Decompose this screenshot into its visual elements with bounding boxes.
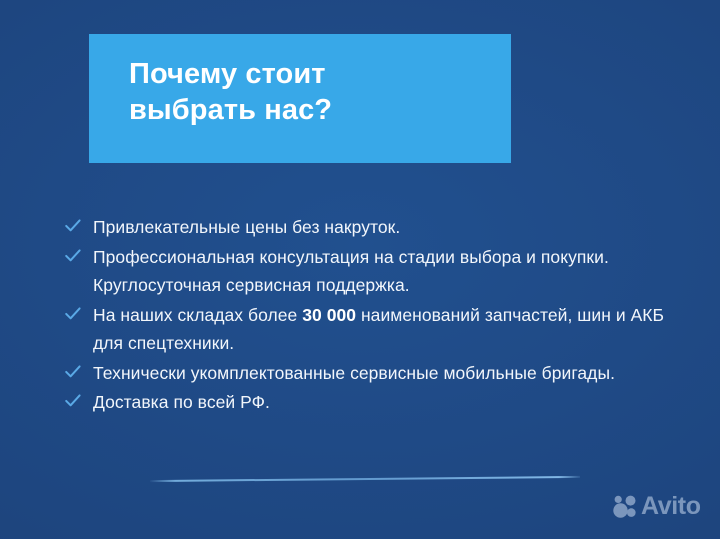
list-item: Профессиональная консультация на стадии …: [64, 243, 690, 300]
list-item: На наших складах более 30 000 наименован…: [64, 301, 690, 358]
check-icon: [64, 217, 82, 235]
check-icon: [64, 363, 82, 381]
list-item-text: Профессиональная консультация на стадии …: [93, 247, 609, 296]
list-item-text: Доставка по всей РФ.: [93, 392, 270, 412]
list-item: Технически укомплектованные сервисные мо…: [64, 359, 690, 388]
list-item-text: Технически укомплектованные сервисные мо…: [93, 363, 615, 383]
check-icon: [64, 305, 82, 323]
list-item: Доставка по всей РФ.: [64, 388, 690, 417]
divider: [150, 476, 580, 482]
slide-canvas: Почему стоит выбрать нас? Привлекательны…: [0, 0, 720, 539]
list-item-text: На наших складах более 30 000 наименован…: [93, 305, 664, 354]
list-item-text: Привлекательные цены без накруток.: [93, 217, 400, 237]
check-icon: [64, 247, 82, 265]
heading-banner: Почему стоит выбрать нас?: [89, 34, 511, 163]
check-icon: [64, 392, 82, 410]
heading-line-1: Почему стоит: [129, 56, 495, 92]
list-item: Привлекательные цены без накруток.: [64, 213, 690, 242]
avito-dots-icon: [612, 495, 638, 519]
benefits-list: Привлекательные цены без накруток. Профе…: [64, 213, 690, 418]
heading-text-block: Почему стоит выбрать нас?: [129, 56, 495, 128]
avito-wordmark: Avito: [641, 494, 701, 519]
heading-line-2: выбрать нас?: [129, 92, 495, 128]
avito-watermark: Avito: [612, 494, 701, 519]
